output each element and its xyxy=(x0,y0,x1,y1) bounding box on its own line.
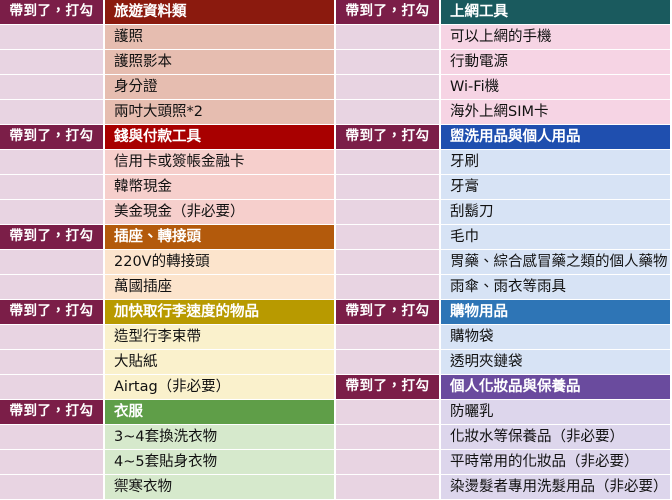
checklist-row[interactable]: 4~5套貼身衣物 xyxy=(0,450,334,475)
item-label: 護照 xyxy=(105,25,334,50)
item-label: 行動電源 xyxy=(441,50,670,75)
checklist-row[interactable]: Wi-Fi機 xyxy=(336,75,670,100)
item-label: 4~5套貼身衣物 xyxy=(105,450,334,475)
check-cell[interactable] xyxy=(0,275,105,300)
check-cell[interactable] xyxy=(0,475,105,500)
item-label: 韓幣現金 xyxy=(105,175,334,200)
check-cell[interactable] xyxy=(336,50,441,75)
item-label: Airtag（非必要） xyxy=(105,375,334,400)
section-title: 插座、轉接頭 xyxy=(105,225,334,250)
item-label: 可以上網的手機 xyxy=(441,25,670,50)
check-cell[interactable] xyxy=(336,475,441,500)
section-header-row: 帶到了，打勾衣服 xyxy=(0,400,334,425)
checklist-row[interactable]: 3~4套換洗衣物 xyxy=(0,425,334,450)
checklist-row[interactable]: 大貼紙 xyxy=(0,350,334,375)
check-cell[interactable] xyxy=(0,325,105,350)
section-title: 加快取行李速度的物品 xyxy=(105,300,334,325)
section-header-row: 帶到了，打勾旅遊資料類 xyxy=(0,0,334,25)
section-title: 個人化妝品與保養品 xyxy=(441,375,670,400)
check-cell[interactable] xyxy=(336,275,441,300)
section-title: 衣服 xyxy=(105,400,334,425)
check-cell[interactable] xyxy=(0,350,105,375)
checklist-row[interactable]: 220V的轉接頭 xyxy=(0,250,334,275)
checklist-row[interactable]: 信用卡或簽帳金融卡 xyxy=(0,150,334,175)
checklist-row[interactable]: 兩吋大頭照*2 xyxy=(0,100,334,125)
checklist-row[interactable]: 防曬乳 xyxy=(336,400,670,425)
section-header-row: 帶到了，打勾加快取行李速度的物品 xyxy=(0,300,334,325)
section-header-row: 帶到了，打勾購物用品 xyxy=(336,300,670,325)
check-column-header: 帶到了，打勾 xyxy=(336,0,441,25)
check-cell[interactable] xyxy=(0,375,105,400)
item-label: 防曬乳 xyxy=(441,400,670,425)
check-column-header: 帶到了，打勾 xyxy=(336,125,441,150)
item-label: 化妝水等保養品（非必要） xyxy=(441,425,670,450)
item-label: 牙膏 xyxy=(441,175,670,200)
checklist-row[interactable]: 護照 xyxy=(0,25,334,50)
check-cell[interactable] xyxy=(0,100,105,125)
check-cell[interactable] xyxy=(0,175,105,200)
section-header-row: 帶到了，打勾盥洗用品與個人用品 xyxy=(336,125,670,150)
checklist-row[interactable]: 海外上網SIM卡 xyxy=(336,100,670,125)
checklist-row[interactable]: 韓幣現金 xyxy=(0,175,334,200)
checklist-row[interactable]: 雨傘、雨衣等雨具 xyxy=(336,275,670,300)
check-column-header: 帶到了，打勾 xyxy=(336,375,441,400)
right-column: 帶到了，打勾上網工具可以上網的手機行動電源Wi-Fi機海外上網SIM卡帶到了，打… xyxy=(336,0,670,500)
section-header-row: 帶到了，打勾個人化妝品與保養品 xyxy=(336,375,670,400)
check-cell[interactable] xyxy=(336,25,441,50)
check-cell[interactable] xyxy=(336,225,441,250)
check-cell[interactable] xyxy=(336,100,441,125)
checklist-row[interactable]: 造型行李束帶 xyxy=(0,325,334,350)
checklist-row[interactable]: 染燙髮者專用洗髮用品（非必要） xyxy=(336,475,670,500)
section-title: 盥洗用品與個人用品 xyxy=(441,125,670,150)
item-label: 220V的轉接頭 xyxy=(105,250,334,275)
checklist-row[interactable]: 行動電源 xyxy=(336,50,670,75)
section-header-row: 帶到了，打勾上網工具 xyxy=(336,0,670,25)
checklist-row[interactable]: 毛巾 xyxy=(336,225,670,250)
item-label: 護照影本 xyxy=(105,50,334,75)
checklist-row[interactable]: Airtag（非必要） xyxy=(0,375,334,400)
check-column-header: 帶到了，打勾 xyxy=(0,300,105,325)
check-cell[interactable] xyxy=(0,25,105,50)
check-cell[interactable] xyxy=(0,75,105,100)
check-column-header: 帶到了，打勾 xyxy=(336,300,441,325)
check-cell[interactable] xyxy=(336,150,441,175)
item-label: 刮鬍刀 xyxy=(441,200,670,225)
checklist-row[interactable]: 可以上網的手機 xyxy=(336,25,670,50)
checklist-row[interactable]: 牙膏 xyxy=(336,175,670,200)
checklist-row[interactable]: 刮鬍刀 xyxy=(336,200,670,225)
checklist-row[interactable]: 美金現金（非必要） xyxy=(0,200,334,225)
item-label: 平時常用的化妝品（非必要） xyxy=(441,450,670,475)
check-cell[interactable] xyxy=(0,200,105,225)
check-cell[interactable] xyxy=(336,350,441,375)
item-label: 雨傘、雨衣等雨具 xyxy=(441,275,670,300)
section-title: 購物用品 xyxy=(441,300,670,325)
item-label: 毛巾 xyxy=(441,225,670,250)
item-label: 萬國插座 xyxy=(105,275,334,300)
check-cell[interactable] xyxy=(0,450,105,475)
check-cell[interactable] xyxy=(336,450,441,475)
check-cell[interactable] xyxy=(336,75,441,100)
item-label: 3~4套換洗衣物 xyxy=(105,425,334,450)
check-column-header: 帶到了，打勾 xyxy=(0,400,105,425)
item-label: 胃藥、綜合感冒藥之類的個人藥物 xyxy=(441,250,670,275)
item-label: 禦寒衣物 xyxy=(105,475,334,500)
check-cell[interactable] xyxy=(336,250,441,275)
section-header-row: 帶到了，打勾錢與付款工具 xyxy=(0,125,334,150)
check-column-header: 帶到了，打勾 xyxy=(0,0,105,25)
item-label: 造型行李束帶 xyxy=(105,325,334,350)
check-cell[interactable] xyxy=(336,325,441,350)
check-cell[interactable] xyxy=(336,425,441,450)
check-column-header: 帶到了，打勾 xyxy=(0,225,105,250)
section-title: 錢與付款工具 xyxy=(105,125,334,150)
section-title: 上網工具 xyxy=(441,0,670,25)
check-cell[interactable] xyxy=(0,50,105,75)
checklist-row[interactable]: 透明夾鏈袋 xyxy=(336,350,670,375)
check-cell[interactable] xyxy=(336,400,441,425)
check-cell[interactable] xyxy=(0,150,105,175)
check-cell[interactable] xyxy=(0,250,105,275)
check-cell[interactable] xyxy=(336,200,441,225)
item-label: Wi-Fi機 xyxy=(441,75,670,100)
item-label: 身分證 xyxy=(105,75,334,100)
check-cell[interactable] xyxy=(0,425,105,450)
checklist-row[interactable]: 平時常用的化妝品（非必要） xyxy=(336,450,670,475)
section-title: 旅遊資料類 xyxy=(105,0,334,25)
item-label: 兩吋大頭照*2 xyxy=(105,100,334,125)
item-label: 大貼紙 xyxy=(105,350,334,375)
checklist-row[interactable]: 萬國插座 xyxy=(0,275,334,300)
checklist-row[interactable]: 購物袋 xyxy=(336,325,670,350)
item-label: 染燙髮者專用洗髮用品（非必要） xyxy=(441,475,670,500)
checklist-row[interactable]: 胃藥、綜合感冒藥之類的個人藥物 xyxy=(336,250,670,275)
section-header-row: 帶到了，打勾插座、轉接頭 xyxy=(0,225,334,250)
checklist-row[interactable]: 身分證 xyxy=(0,75,334,100)
checklist-row[interactable]: 護照影本 xyxy=(0,50,334,75)
item-label: 購物袋 xyxy=(441,325,670,350)
check-column-header: 帶到了，打勾 xyxy=(0,125,105,150)
item-label: 美金現金（非必要） xyxy=(105,200,334,225)
checklist-row[interactable]: 牙刷 xyxy=(336,150,670,175)
left-column: 帶到了，打勾旅遊資料類護照護照影本身分證兩吋大頭照*2帶到了，打勾錢與付款工具信… xyxy=(0,0,334,500)
checklist-row[interactable]: 化妝水等保養品（非必要） xyxy=(336,425,670,450)
item-label: 信用卡或簽帳金融卡 xyxy=(105,150,334,175)
item-label: 透明夾鏈袋 xyxy=(441,350,670,375)
item-label: 牙刷 xyxy=(441,150,670,175)
check-cell[interactable] xyxy=(336,175,441,200)
packing-checklist: 帶到了，打勾旅遊資料類護照護照影本身分證兩吋大頭照*2帶到了，打勾錢與付款工具信… xyxy=(0,0,672,468)
checklist-row[interactable]: 禦寒衣物 xyxy=(0,475,334,500)
item-label: 海外上網SIM卡 xyxy=(441,100,670,125)
